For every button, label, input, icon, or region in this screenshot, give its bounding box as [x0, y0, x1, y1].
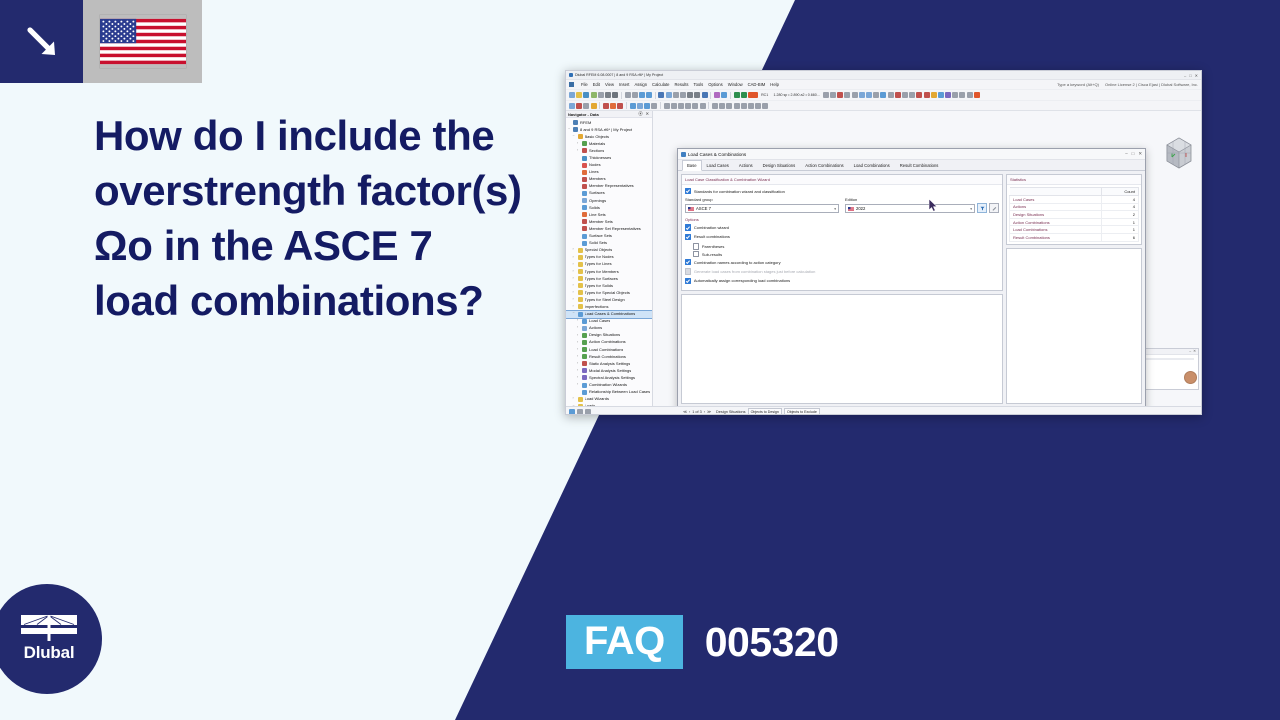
- chevron-down-icon[interactable]: ▾: [970, 207, 972, 211]
- tree-node-icon: [582, 368, 587, 373]
- chevron-down-icon[interactable]: ▾: [834, 207, 836, 211]
- mirror-icon[interactable]: [685, 103, 691, 109]
- tree-node-icon: [582, 375, 587, 380]
- pan-tool-icon[interactable]: [830, 92, 836, 98]
- tree-item-types-for-nodes[interactable]: ›Types for Nodes: [566, 254, 652, 261]
- bg-doc-close[interactable]: ✕: [1193, 349, 1196, 354]
- tree-expander[interactable]: −: [573, 405, 578, 407]
- rotate-icon[interactable]: [692, 103, 698, 109]
- tree-item-load-cases[interactable]: ›Load Cases: [566, 318, 652, 325]
- menu-item-results[interactable]: Results: [675, 82, 689, 87]
- statistics-row-label: Load Cases: [1010, 196, 1102, 204]
- lower-left-panel[interactable]: [681, 294, 1003, 404]
- option-combination-wizard[interactable]: Combination wizard: [685, 224, 999, 230]
- option-label: Combination wizard: [694, 225, 729, 230]
- warning-icon[interactable]: [748, 92, 758, 98]
- toolbar-separator: [710, 92, 711, 99]
- page-title: How do I include the overstrength factor…: [94, 108, 564, 328]
- menu-grid-icon[interactable]: [569, 82, 574, 87]
- option-checkbox[interactable]: [685, 234, 691, 240]
- snap-point-icon[interactable]: [569, 103, 575, 109]
- next-page-icon[interactable]: ›: [704, 410, 705, 414]
- copy-object-icon[interactable]: [755, 103, 761, 109]
- tree-item-label: Types for Special Objects: [585, 291, 630, 295]
- tree-node-icon: [582, 226, 587, 231]
- bg-doc-minimize[interactable]: –: [1189, 349, 1191, 354]
- app-body: Navigator - Data ⦿ ✕ RFEM −8 and 9 RSA.r…: [566, 111, 1201, 406]
- tree-item-combination-wizards[interactable]: ›Combination Wizards: [566, 381, 652, 388]
- tree-item-label: Openings: [589, 199, 606, 203]
- navigator-pin-icon[interactable]: ⦿: [639, 111, 644, 116]
- view-cube-icon[interactable]: [1159, 133, 1199, 171]
- new-icon[interactable]: [569, 92, 575, 98]
- solid-view-icon[interactable]: [673, 92, 679, 98]
- tab-action-combinations[interactable]: Action Combinations: [800, 160, 848, 170]
- dlubal-logo: Dlubal: [0, 584, 102, 694]
- standard-fields-row: Standard group ASCE 7: [685, 197, 999, 213]
- statistics-row-count: 1: [1101, 226, 1138, 234]
- dialog-tab-bar[interactable]: BaseLoad CasesActionsDesign SituationsAc…: [678, 160, 1145, 171]
- toolbar-separator: [655, 92, 656, 99]
- app-menu-bar[interactable]: File Edit View Insert Assign Calculate R…: [566, 80, 1201, 90]
- graphics-icon[interactable]: [888, 92, 894, 98]
- options-list[interactable]: Combination wizardResult combinationsPar…: [685, 224, 999, 284]
- tree-expander[interactable]: −: [573, 135, 578, 139]
- tree-expander[interactable]: ›: [573, 270, 578, 274]
- tree-item-actions[interactable]: ›Actions: [566, 325, 652, 332]
- menu-item-window[interactable]: Window: [728, 82, 743, 87]
- tree-node-icon: [582, 319, 587, 324]
- option-checkbox[interactable]: [685, 224, 691, 230]
- coordinate-readout: 1.280 sp • 2.890 a2 • 0.660...: [773, 93, 819, 97]
- option-label: Parentheses: [702, 244, 724, 249]
- navigator-panel[interactable]: Navigator - Data ⦿ ✕ RFEM −8 and 9 RSA.r…: [566, 111, 653, 406]
- standard-group-label: Standard group: [685, 197, 839, 202]
- tree-item-label: Modal Analysis Settings: [589, 369, 631, 373]
- tree-expander[interactable]: ›: [573, 277, 578, 281]
- tree-expander[interactable]: −: [573, 312, 578, 316]
- zoom-tool-icon[interactable]: [823, 92, 829, 98]
- app-title-text: Dlubal RFEM 6.08.0007 | 8 and 9 RSA.rf6*…: [575, 73, 663, 77]
- tree-item-modal-analysis-settings[interactable]: ›Modal Analysis Settings: [566, 367, 652, 374]
- tree-item-root[interactable]: RFEM: [566, 119, 652, 126]
- dialog-maximize-button[interactable]: □: [1132, 151, 1135, 157]
- option-combination-names-according-to-action-category[interactable]: Combination names according to action ca…: [685, 259, 999, 265]
- keyword-search-input[interactable]: Type a keyword (Alt+Q): [1057, 82, 1099, 87]
- tree-node-icon: [582, 177, 587, 182]
- tree-item-label: Sections: [589, 149, 604, 153]
- standards-checkbox-label: Standards for combination wizard and cla…: [694, 189, 785, 194]
- option-checkbox[interactable]: [693, 251, 699, 257]
- wireframe-icon[interactable]: [666, 92, 672, 98]
- tree-item-line-sets[interactable]: Line Sets: [566, 211, 652, 218]
- option-label: Sub-results: [702, 252, 722, 257]
- open-icon[interactable]: [576, 92, 582, 98]
- navigator-pin-close[interactable]: ⦿ ✕: [639, 111, 650, 117]
- tree-node-icon: [578, 290, 583, 295]
- status-bar-top[interactable]: ≪ ‹ 1 of 3 › ≫ Design Situations Objects…: [566, 406, 1201, 415]
- navigator-tree[interactable]: RFEM −8 and 9 RSA.rf6* | My Project−Basi…: [566, 118, 652, 406]
- app-icon: [569, 73, 573, 77]
- tree-item-label: 8 and 9 RSA.rf6* | My Project: [580, 128, 632, 132]
- tree-item-loads[interactable]: −Loads: [566, 403, 652, 406]
- deformation-icon[interactable]: [721, 92, 727, 98]
- section-icon[interactable]: [852, 92, 858, 98]
- dialog-close-button[interactable]: ✕: [1138, 151, 1142, 157]
- grid-icon[interactable]: [680, 92, 686, 98]
- dialog-title-bar: Load Cases & Combinations – □ ✕: [678, 149, 1145, 160]
- calculate-all-icon[interactable]: [741, 92, 747, 98]
- redo-icon[interactable]: [646, 92, 652, 98]
- tree-node-icon: [578, 269, 583, 274]
- tab-base[interactable]: Base: [682, 160, 702, 171]
- statistics-row-label: Result Combinations: [1010, 233, 1102, 241]
- option-sub-results[interactable]: Sub-results: [693, 251, 999, 257]
- menu-item-assign[interactable]: Assign: [634, 82, 647, 87]
- wizard-panel-title: Load Case Classification & Combination W…: [682, 175, 1002, 185]
- tree-item-label: Combination Wizards: [589, 383, 627, 387]
- measure-icon[interactable]: [844, 92, 850, 98]
- toolbar-separator: [708, 102, 709, 109]
- last-page-icon[interactable]: ≫: [707, 409, 711, 414]
- faq-tag: FAQ: [566, 615, 683, 669]
- tree-node-icon: [582, 219, 587, 224]
- tree-node-icon: [582, 141, 587, 146]
- statistics-row-label: Design Situations: [1010, 211, 1102, 219]
- visibility-icon[interactable]: [866, 92, 872, 98]
- status-view-icon[interactable]: [577, 409, 583, 415]
- menu-item-options[interactable]: Options: [708, 82, 722, 87]
- minimize-button[interactable]: –: [1184, 73, 1186, 78]
- tree-item-label: Surfaces: [589, 191, 605, 195]
- card-canvas: How do I include the overstrength factor…: [0, 0, 1280, 720]
- tree-item-label: Types for Members: [585, 270, 619, 274]
- tree-item-member-representatives[interactable]: Member Representatives: [566, 183, 652, 190]
- option-checkbox[interactable]: [685, 278, 691, 284]
- tree-item-load-cases-combinations[interactable]: −Load Cases & Combinations: [566, 311, 652, 318]
- app-title-bar: Dlubal RFEM 6.08.0007 | 8 and 9 RSA.rf6*…: [566, 71, 1201, 80]
- app-toolbar-primary[interactable]: RC1 1.280 sp • 2.890 a2 • 0.660...: [566, 90, 1201, 101]
- tree-item-load-wizards[interactable]: ›Load Wizards: [566, 396, 652, 403]
- menu-item-insert[interactable]: Insert: [619, 82, 629, 87]
- calculate-icon[interactable]: [734, 92, 740, 98]
- members-icon[interactable]: [931, 92, 937, 98]
- nodes-icon[interactable]: [916, 92, 922, 98]
- maximize-button[interactable]: □: [1189, 73, 1191, 78]
- tab-load-combinations[interactable]: Load Combinations: [849, 160, 895, 170]
- tree-item-types-for-lines[interactable]: ›Types for Lines: [566, 261, 652, 268]
- save-as-icon[interactable]: [591, 92, 597, 98]
- page-navigation[interactable]: ≪ ‹ 1 of 3 › ≫: [683, 409, 711, 414]
- work-area[interactable]: –✕ Load Cases & Combinations – □ ✕: [653, 111, 1201, 406]
- tree-item-label: Spectral Analysis Settings: [589, 376, 635, 380]
- tree-item-label: Load Cases: [589, 319, 610, 323]
- move-object-icon[interactable]: [762, 103, 768, 109]
- loads-icon[interactable]: [952, 92, 958, 98]
- option-label: Generate load cases from combination sta…: [694, 269, 815, 274]
- settings-icon[interactable]: [974, 92, 980, 98]
- tree-item-materials[interactable]: ›Materials: [566, 140, 652, 147]
- split-icon[interactable]: [734, 103, 740, 109]
- node-tool-icon[interactable]: [603, 103, 609, 109]
- snap-grid-icon[interactable]: [583, 103, 589, 109]
- headline-line-4: load combinations?: [94, 273, 564, 328]
- tree-item-label: Types for Surfaces: [585, 277, 618, 281]
- releases-icon[interactable]: [967, 92, 973, 98]
- tree-item-label: Action Combinations: [589, 340, 626, 344]
- tree-item-sections[interactable]: ›Sections: [566, 147, 652, 154]
- tree-expander[interactable]: ›: [573, 305, 578, 309]
- tree-item-types-for-members[interactable]: ›Types for Members: [566, 268, 652, 275]
- tree-item-members[interactable]: Members: [566, 176, 652, 183]
- tree-expander[interactable]: ›: [573, 397, 578, 401]
- faq-footer: FAQ 005320: [566, 615, 839, 669]
- save-icon[interactable]: [583, 92, 589, 98]
- dialog-window-controls[interactable]: – □ ✕: [1125, 151, 1142, 157]
- lower-right-panel[interactable]: [1006, 248, 1142, 404]
- dialog-minimize-button[interactable]: –: [1125, 151, 1127, 157]
- option-label: Result combinations: [694, 234, 730, 239]
- print-report-icon[interactable]: [612, 92, 618, 98]
- tree-item-load-combinations[interactable]: ›Load Combinations: [566, 346, 652, 353]
- text-tool-icon[interactable]: [671, 103, 677, 109]
- tree-item-basic-objects[interactable]: −Basic Objects: [566, 133, 652, 140]
- tree-node-icon: [582, 170, 587, 175]
- menu-item-file[interactable]: File: [581, 82, 588, 87]
- first-page-icon[interactable]: ≪: [683, 409, 687, 414]
- option-checkbox: [685, 268, 691, 274]
- menu-item-calculate[interactable]: Calculate: [652, 82, 669, 87]
- array-icon[interactable]: [719, 103, 725, 109]
- tree-item-spectral-analysis-settings[interactable]: ›Spectral Analysis Settings: [566, 374, 652, 381]
- status-grid-icon[interactable]: [569, 409, 575, 415]
- menu-item-tools[interactable]: Tools: [693, 82, 703, 87]
- statistics-title: Statistics: [1007, 175, 1141, 185]
- copy-icon[interactable]: [632, 92, 638, 98]
- edition-field: Edition: [845, 197, 999, 213]
- objects-to-exclude-tab[interactable]: Objects to Exclude: [784, 408, 820, 415]
- tree-item-surfaces[interactable]: Surfaces: [566, 190, 652, 197]
- edition-label: Edition: [845, 197, 975, 202]
- lighting-icon[interactable]: [873, 92, 879, 98]
- render-mode-icon[interactable]: [658, 92, 664, 98]
- objects-to-design-tab[interactable]: Objects to Design: [748, 408, 782, 415]
- status-filter-icon[interactable]: [585, 409, 591, 415]
- tree-item-types-for-special-objects[interactable]: ›Types for Special Objects: [566, 289, 652, 296]
- tree-item-label: Solid Sets: [589, 241, 607, 245]
- standards-checkbox[interactable]: [685, 188, 691, 194]
- usa-flag-icon: [100, 15, 186, 68]
- tree-item-label: Members: [589, 177, 606, 181]
- tree-item-imperfections[interactable]: ›Imperfections: [566, 303, 652, 310]
- option-result-combinations[interactable]: Result combinations: [685, 234, 999, 240]
- tree-item-member-set-representatives[interactable]: Member Set Representatives: [566, 225, 652, 232]
- statistics-header-blank: [1010, 188, 1102, 196]
- results-icon[interactable]: [714, 92, 720, 98]
- tree-node-icon: [573, 127, 578, 132]
- tree-item-design-situations[interactable]: ›Design Situations: [566, 332, 652, 339]
- lines-icon[interactable]: [924, 92, 930, 98]
- tree-expander[interactable]: ›: [573, 284, 578, 288]
- print-preview-icon[interactable]: [598, 92, 604, 98]
- dialog-left-column: Load Case Classification & Combination W…: [681, 174, 1003, 404]
- tree-item-types-for-steel-design[interactable]: ›Types for Steel Design: [566, 296, 652, 303]
- tree-node-icon: [582, 184, 587, 189]
- surface-tool-icon[interactable]: [630, 103, 636, 109]
- statistics-row: Load Combinations1: [1010, 226, 1139, 234]
- close-button[interactable]: ✕: [1195, 73, 1198, 78]
- design-situations-label: Design Situations: [716, 410, 746, 414]
- trim-icon[interactable]: [726, 103, 732, 109]
- toolbar-separator: [621, 92, 622, 99]
- edition-select[interactable]: 2022 ▾: [845, 204, 975, 214]
- tree-item-8-and-9-rsa-rf6-my-project[interactable]: −8 and 9 RSA.rf6* | My Project: [566, 126, 652, 133]
- menu-item-cadbim[interactable]: CAD-BIM: [748, 82, 766, 87]
- headline-line-1: How do I include the: [94, 108, 564, 163]
- statistics-table: Count Load Cases4Actions4Design Situatio…: [1009, 187, 1139, 242]
- tree-item-types-for-solids[interactable]: ›Types for Solids: [566, 282, 652, 289]
- snap-midpoint-icon[interactable]: [591, 103, 597, 109]
- dlubal-bridge-icon: [21, 615, 77, 641]
- table-icon[interactable]: [880, 92, 886, 98]
- faq-number: 005320: [705, 622, 839, 663]
- tab-design-situations[interactable]: Design Situations: [758, 160, 801, 170]
- extrude-icon[interactable]: [712, 103, 718, 109]
- menu-item-edit[interactable]: Edit: [593, 82, 600, 87]
- load-cases-combinations-dialog[interactable]: Load Cases & Combinations – □ ✕ BaseLoad…: [677, 148, 1146, 406]
- tree-node-icon: [582, 148, 587, 153]
- select-tool-icon[interactable]: [837, 92, 843, 98]
- option-label: Combination names according to action ca…: [694, 260, 781, 265]
- tree-item-types-for-surfaces[interactable]: ›Types for Surfaces: [566, 275, 652, 282]
- navigator-close-icon[interactable]: ✕: [646, 111, 650, 116]
- tree-expander[interactable]: ›: [573, 256, 578, 260]
- wizard-panel-body: Standards for combination wizard and cla…: [682, 185, 1002, 290]
- tree-item-thicknesses[interactable]: Thicknesses: [566, 154, 652, 161]
- option-parentheses[interactable]: Parentheses: [693, 243, 999, 249]
- tree-item-solids[interactable]: Solids: [566, 204, 652, 211]
- statistics-row: Load Cases4: [1010, 196, 1139, 204]
- scale-icon[interactable]: [700, 103, 706, 109]
- member-tool-icon[interactable]: [617, 103, 623, 109]
- tree-item-label: Load Wizards: [585, 397, 609, 401]
- tree-item-member-sets[interactable]: Member Sets: [566, 218, 652, 225]
- solids-icon[interactable]: [945, 92, 951, 98]
- standard-group-select[interactable]: ASCE 7 ▾: [685, 204, 839, 214]
- solid-tool-icon[interactable]: [644, 103, 650, 109]
- filter-icon[interactable]: [977, 203, 987, 213]
- snap-line-icon[interactable]: [576, 103, 582, 109]
- top-left-corner-badges: [0, 0, 202, 83]
- tree-node-icon: [578, 283, 583, 288]
- toolbar-separator: [660, 102, 661, 109]
- tree-item-action-combinations[interactable]: ›Action Combinations: [566, 339, 652, 346]
- tree-item-static-analysis-settings[interactable]: ›Static Analysis Settings: [566, 360, 652, 367]
- center-icon[interactable]: [702, 92, 708, 98]
- tree-expander[interactable]: ›: [573, 291, 578, 295]
- printer-icon[interactable]: [605, 92, 611, 98]
- dialog-content: Load Case Classification & Combination W…: [678, 171, 1145, 406]
- dimension-tool-icon[interactable]: [664, 103, 670, 109]
- support-tool-icon[interactable]: [651, 103, 657, 109]
- tree-item-openings[interactable]: Openings: [566, 197, 652, 204]
- tree-item-label: Member Set Representatives: [589, 227, 641, 231]
- tree-item-nodes[interactable]: Nodes: [566, 162, 652, 169]
- opening-tool-icon[interactable]: [637, 103, 643, 109]
- line-tool-icon[interactable]: [610, 103, 616, 109]
- dlubal-logo-text: Dlubal: [24, 643, 75, 663]
- tree-item-result-combinations[interactable]: ›Result Combinations: [566, 353, 652, 360]
- tree-node-icon: [582, 234, 587, 239]
- surfaces-icon[interactable]: [938, 92, 944, 98]
- materials-icon[interactable]: [902, 92, 908, 98]
- layer-icon[interactable]: [859, 92, 865, 98]
- tree-expander[interactable]: ›: [573, 263, 578, 267]
- snap-icon[interactable]: [687, 92, 693, 98]
- tree-item-label: Actions: [589, 326, 602, 330]
- offset-icon[interactable]: [748, 103, 754, 109]
- tree-item-lines[interactable]: Lines: [566, 169, 652, 176]
- tab-load-cases[interactable]: Load Cases: [702, 160, 734, 170]
- tree-expander[interactable]: ›: [573, 248, 578, 252]
- option-checkbox[interactable]: [685, 259, 691, 265]
- tree-expander[interactable]: ›: [573, 298, 578, 302]
- tree-node-icon: [578, 404, 583, 406]
- statistics-header-row: Count: [1010, 188, 1139, 196]
- tree-item-solid-sets[interactable]: Solid Sets: [566, 240, 652, 247]
- statistics-row-label: Actions: [1010, 203, 1102, 211]
- dialog-title: Load Cases & Combinations: [688, 152, 746, 157]
- tree-item-relationship-between-load-cases[interactable]: Relationship Between Load Cases: [566, 389, 652, 396]
- application-screenshot: Dlubal RFEM 6.08.0007 | 8 and 9 RSA.rf6*…: [565, 70, 1202, 415]
- tree-item-label: Types for Steel Design: [585, 298, 625, 302]
- tab-actions[interactable]: Actions: [734, 160, 758, 170]
- option-automatically-assign-corresponding-load-combinations[interactable]: Automatically assign corresponding load …: [685, 278, 999, 284]
- ortho-icon[interactable]: [694, 92, 700, 98]
- cut-icon[interactable]: [625, 92, 631, 98]
- edition-value: 2022: [856, 206, 865, 211]
- report-icon[interactable]: [895, 92, 901, 98]
- menu-item-help[interactable]: Help: [770, 82, 779, 87]
- prev-page-icon[interactable]: ‹: [689, 410, 690, 414]
- usa-flag-icon: [688, 207, 694, 211]
- standards-checkbox-row[interactable]: Standards for combination wizard and cla…: [685, 188, 999, 194]
- arrow-down-right-icon: [23, 23, 61, 61]
- supports-icon[interactable]: [959, 92, 965, 98]
- tab-result-combinations[interactable]: Result Combinations: [895, 160, 944, 170]
- sections-icon[interactable]: [909, 92, 915, 98]
- undo-icon[interactable]: [639, 92, 645, 98]
- toolbar-separator: [626, 102, 627, 109]
- tree-item-label: Line Sets: [589, 213, 606, 217]
- toolbar-separator: [730, 92, 731, 99]
- headline-line-2: overstrength factor(s): [94, 163, 564, 218]
- window-controls[interactable]: – □ ✕: [1184, 73, 1198, 78]
- tree-node-icon: [578, 397, 583, 402]
- tree-node-icon: [578, 262, 583, 267]
- app-toolbar-secondary[interactable]: [566, 101, 1201, 111]
- tree-item-label: Loads: [585, 404, 596, 406]
- edit-icon[interactable]: [989, 203, 999, 213]
- menu-item-view[interactable]: View: [605, 82, 614, 87]
- tree-item-surface-sets[interactable]: Surface Sets: [566, 233, 652, 240]
- option-checkbox[interactable]: [693, 243, 699, 249]
- menu-bar-right[interactable]: Type a keyword (Alt+Q) Online License 2 …: [1057, 82, 1198, 87]
- align-icon[interactable]: [678, 103, 684, 109]
- user-avatar[interactable]: [1184, 371, 1197, 384]
- tree-item-special-objects[interactable]: ›Special Objects: [566, 247, 652, 254]
- join-icon[interactable]: [741, 103, 747, 109]
